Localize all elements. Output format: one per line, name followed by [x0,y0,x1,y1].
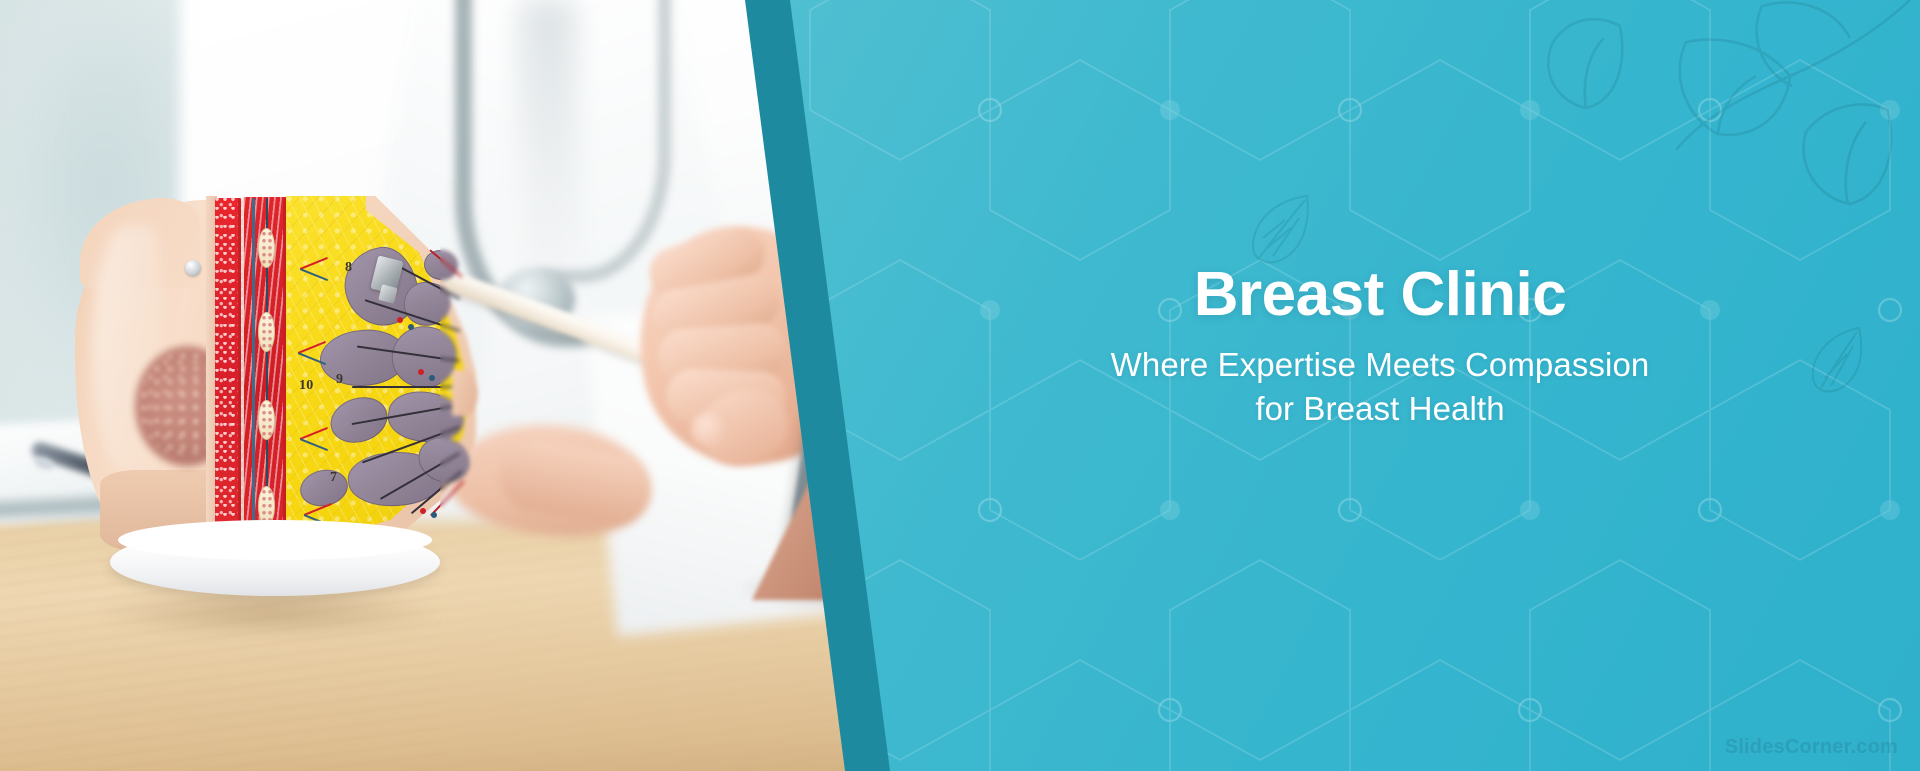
model-vessel-arrow [300,268,334,294]
breast-clinic-banner: 8 9 10 7 [0,0,1920,771]
model-base-stand-top [118,520,432,560]
model-callout-number-10: 10 [299,378,313,394]
model-pin-marker [185,260,201,276]
model-lymph-node [258,400,275,440]
model-callout-number-7: 7 [330,470,337,486]
model-marker-dot-red [420,508,426,514]
model-artery-2 [238,198,241,546]
banner-text-block: Breast Clinic Where Expertise Meets Comp… [1010,262,1750,430]
model-vein-1 [252,198,255,546]
model-callout-number-9: 9 [336,372,343,388]
model-vessel-arrow [300,438,334,464]
model-marker-dot-blue [429,375,435,381]
model-lymph-node [258,312,275,352]
model-nipple [452,370,478,416]
banner-subtitle: Where Expertise Meets Compassion for Bre… [1010,343,1750,430]
model-vessel-arrow [298,352,332,378]
model-marker-dot-red [418,369,424,375]
banner-subtitle-line-1: Where Expertise Meets Compassion [1111,346,1650,383]
model-marker-dot-red [397,317,403,323]
page-title: Breast Clinic [1010,262,1750,327]
model-callout-number-8: 8 [345,260,352,276]
model-milk-duct [352,386,460,388]
banner-subtitle-line-2: for Breast Health [1255,390,1504,427]
model-marker-dot-blue [408,324,414,330]
model-marker-dot-blue [431,512,437,518]
model-artery-1 [283,198,286,546]
model-lymph-node [258,228,275,268]
watermark: SlidesCorner.com [1725,736,1898,759]
